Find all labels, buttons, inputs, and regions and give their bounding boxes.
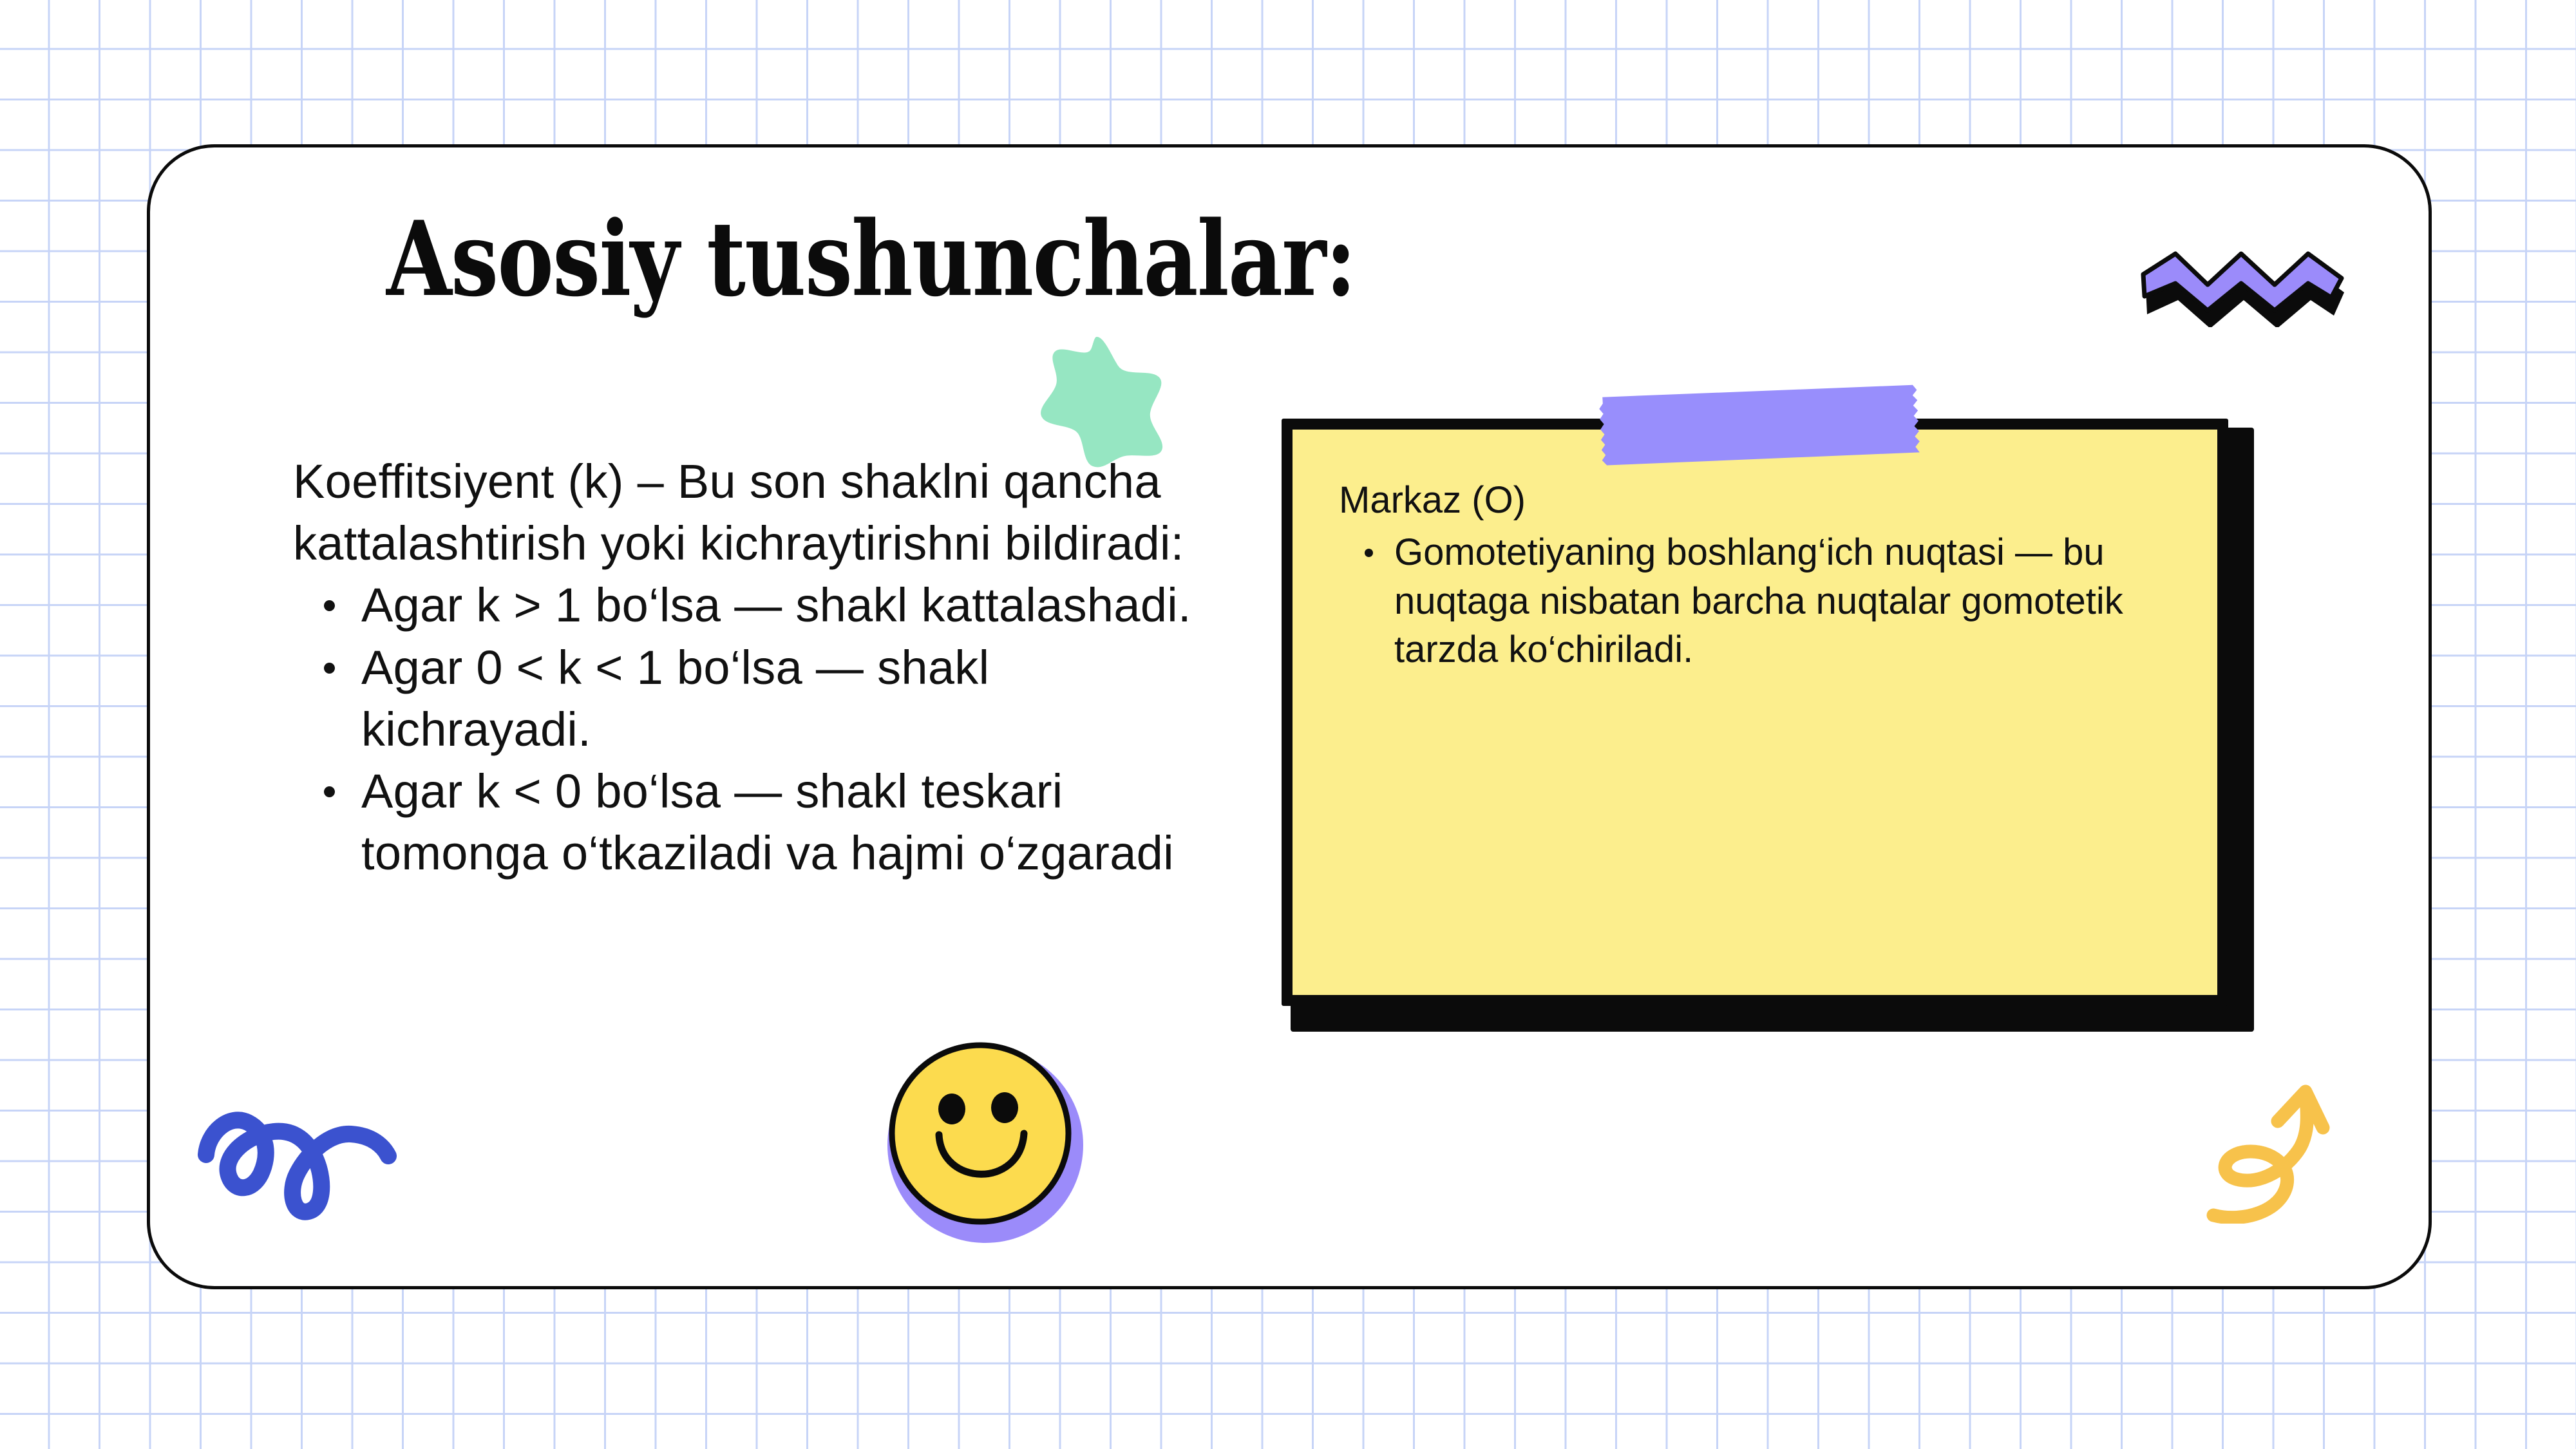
list-item: Agar k < 0 bo‘lsa — shakl teskari tomong… (361, 761, 1207, 884)
page-title: Asosiy tushunchalar: (386, 207, 1759, 310)
smiley-face-icon (882, 1037, 1104, 1259)
zigzag-icon (2138, 224, 2357, 327)
sticky-note-body: Markaz (O) Gomotetiyaning boshlang‘ich n… (1282, 419, 2228, 1006)
washi-tape (1598, 368, 1924, 481)
sticky-note-heading: Markaz (O) (1339, 476, 2188, 524)
squiggle-icon (190, 1104, 402, 1240)
curly-arrow-icon (2206, 1046, 2392, 1224)
list-item: Agar k > 1 bo‘lsa — shakl kattalashadi. (361, 574, 1207, 636)
list-item: Gomotetiyaning boshlang‘ich nuqtasi — bu… (1394, 528, 2188, 674)
coefficient-bullet-list: Agar k > 1 bo‘lsa — shakl kattalashadi. … (293, 574, 1207, 884)
slide-canvas: Asosiy tushunchalar: Koeffitsiyent (k) –… (0, 0, 2576, 1449)
list-item: Agar 0 < k < 1 bo‘lsa — shakl kichrayadi… (361, 637, 1207, 761)
star-icon (1021, 332, 1175, 470)
sticky-note-bullet-list: Gomotetiyaning boshlang‘ich nuqtasi — bu… (1339, 528, 2188, 674)
left-text-column: Koeffitsiyent (k) – Bu son shaklni qanch… (293, 451, 1207, 884)
sticky-note: Markaz (O) Gomotetiyaning boshlang‘ich n… (1282, 419, 2254, 1032)
